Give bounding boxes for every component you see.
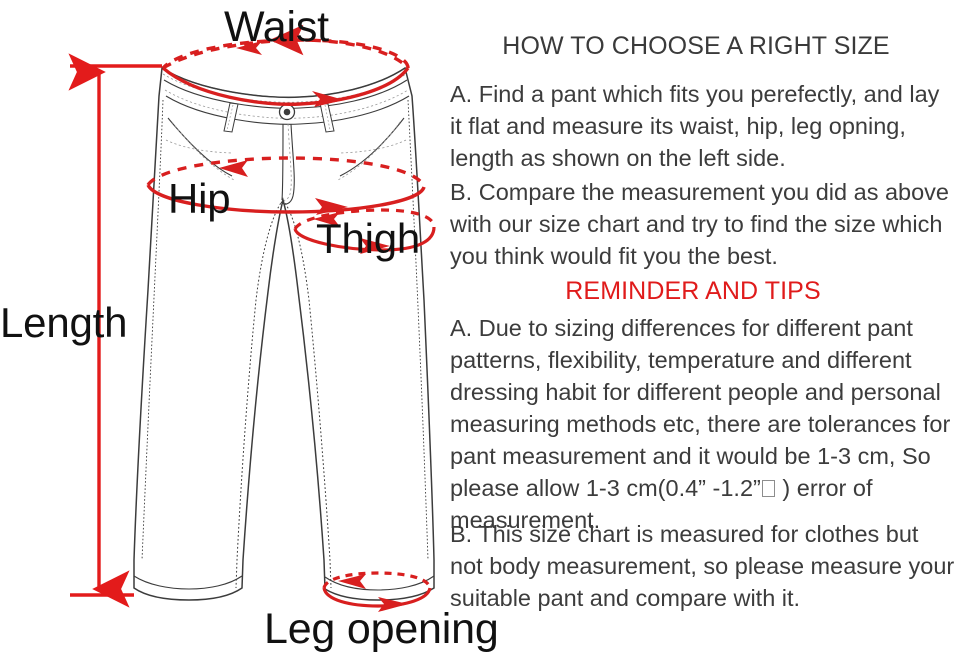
pants-diagram: Waist Hip Thigh Length Leg opening: [0, 0, 440, 671]
guide-paragraph-a: A. Find a pant which fits you perefectly…: [450, 78, 955, 174]
waist-button: [280, 105, 295, 120]
size-guide-page: Waist Hip Thigh Length Leg opening HOW T…: [0, 0, 958, 671]
label-thigh: Thigh: [316, 218, 420, 260]
label-hip: Hip: [168, 178, 230, 220]
guide-paragraph-b: B. Compare the measurement you did as ab…: [450, 176, 955, 272]
reminder-paragraph-a-text1: A. Due to sizing differences for differe…: [450, 315, 950, 501]
label-length: Length: [0, 302, 127, 344]
reminder-paragraph-b: B. This size chart is measured for cloth…: [450, 518, 955, 614]
instructions-panel: HOW TO CHOOSE A RIGHT SIZE A. Find a pan…: [440, 0, 958, 671]
how-to-choose-title: HOW TO CHOOSE A RIGHT SIZE: [440, 32, 952, 61]
jeans-outline: [134, 68, 434, 600]
reminder-paragraph-a: A. Due to sizing differences for differe…: [450, 312, 955, 536]
label-waist: Waist: [224, 6, 329, 49]
reminder-and-tips-title: REMINDER AND TIPS: [440, 277, 946, 306]
missing-glyph-box: [762, 480, 775, 497]
